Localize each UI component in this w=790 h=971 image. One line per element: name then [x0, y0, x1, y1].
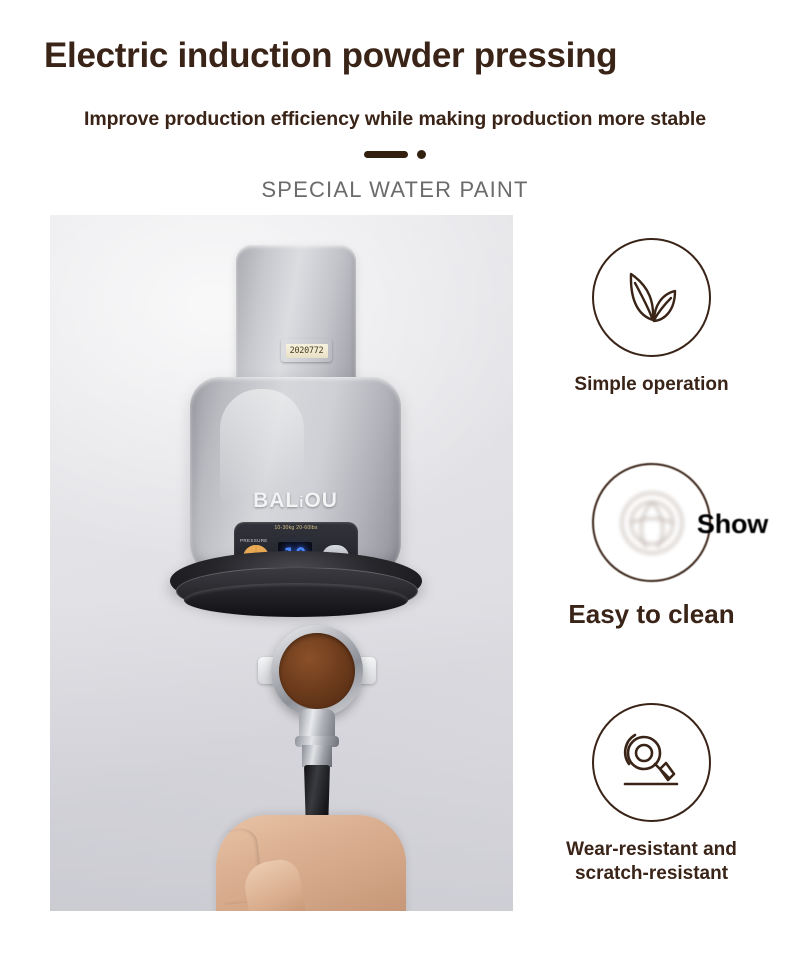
feature-label: Simple operation	[513, 373, 790, 397]
serial-number-plate: 2020772	[281, 339, 332, 362]
feature-item-wear-resistant: Wear-resistant and scratch-resistant	[513, 703, 790, 886]
machine-body: BALiOU 10-30kg 20-60lbs PRESSURE 10 CLEA…	[190, 377, 401, 577]
leaf-icon-glyph	[615, 261, 689, 335]
pressure-label: PRESSURE	[240, 538, 268, 543]
machine-base-lip	[184, 583, 408, 617]
portafilter-neck	[302, 745, 332, 767]
coffee-puck	[279, 633, 355, 709]
divider-dot	[417, 150, 426, 159]
pressure-range-label: 10-30kg 20-60lbs	[234, 525, 358, 531]
feature-item-easy-to-clean: Show Easy to clean	[513, 463, 790, 631]
divider-bar	[364, 151, 408, 158]
show-overlay-text: Show	[594, 465, 790, 584]
page-title: Electric induction powder pressing	[44, 36, 617, 76]
page-subtitle: Improve production efficiency while maki…	[0, 108, 790, 131]
feature-label: Wear-resistant and scratch-resistant	[513, 838, 790, 886]
scratch-test-magnifier-icon	[592, 703, 711, 822]
brand-logo-text-tail: OU	[304, 489, 338, 512]
machine-upper-column	[236, 245, 356, 390]
brand-logo-text: BAL	[253, 489, 299, 512]
divider-ornament	[0, 150, 790, 159]
blurred-circle-icon: Show	[592, 463, 711, 582]
feature-label: Easy to clean	[513, 598, 790, 631]
scratch-test-magnifier-icon-glyph	[613, 724, 691, 802]
serial-number-text: 2020772	[286, 344, 328, 358]
brand-logo: BALiOU	[190, 489, 401, 513]
product-photo: 2020772 BALiOU 10-30kg 20-60lbs PRESSURE…	[50, 215, 513, 911]
portafilter-basket	[271, 625, 363, 717]
leaf-icon	[592, 238, 711, 357]
feature-item-simple-operation: Simple operation	[513, 238, 790, 397]
section-title: SPECIAL WATER PAINT	[0, 177, 790, 203]
